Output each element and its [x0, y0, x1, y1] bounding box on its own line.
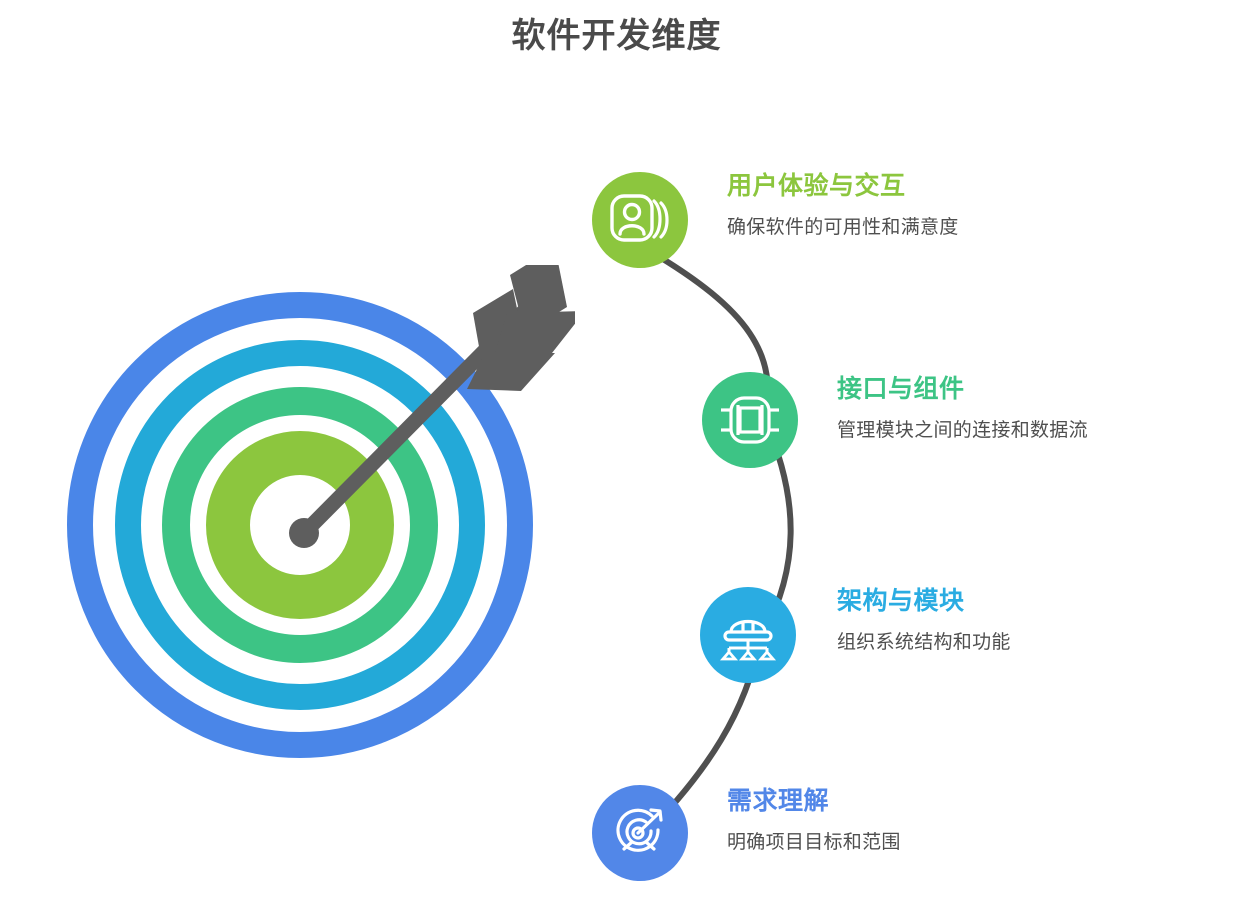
chip-module-icon [718, 390, 782, 450]
page-title: 软件开发维度 [0, 14, 1233, 58]
step-text-interface: 接口与组件 管理模块之间的连接和数据流 [837, 373, 1088, 445]
step-heading-ux: 用户体验与交互 [727, 170, 959, 202]
connector-path [640, 250, 791, 840]
step-heading-requirements: 需求理解 [727, 785, 901, 817]
arrow-point [289, 518, 319, 548]
step-badge-requirements[interactable] [592, 785, 688, 881]
step-text-ux: 用户体验与交互 确保软件的可用性和满意度 [727, 170, 959, 242]
infographic-canvas: 软件开发维度 [0, 0, 1233, 914]
step-description-requirements: 明确项目目标和范围 [727, 829, 901, 857]
step-badge-interface[interactable] [702, 372, 798, 468]
step-description-interface: 管理模块之间的连接和数据流 [837, 417, 1088, 445]
step-description-ux: 确保软件的可用性和满意度 [727, 214, 959, 242]
step-heading-architecture: 架构与模块 [837, 585, 1011, 617]
step-badge-ux[interactable] [592, 172, 688, 268]
user-experience-icon [609, 191, 671, 249]
step-text-requirements: 需求理解 明确项目目标和范围 [727, 785, 901, 857]
target-arrow-icon [608, 802, 672, 864]
hard-hat-hierarchy-icon [716, 605, 780, 665]
step-description-architecture: 组织系统结构和功能 [837, 629, 1011, 657]
bullseye-target-graphic [55, 265, 575, 785]
step-text-architecture: 架构与模块 组织系统结构和功能 [837, 585, 1011, 657]
arrow-fletching [467, 265, 575, 391]
step-heading-interface: 接口与组件 [837, 373, 1088, 405]
step-badge-architecture[interactable] [700, 587, 796, 683]
